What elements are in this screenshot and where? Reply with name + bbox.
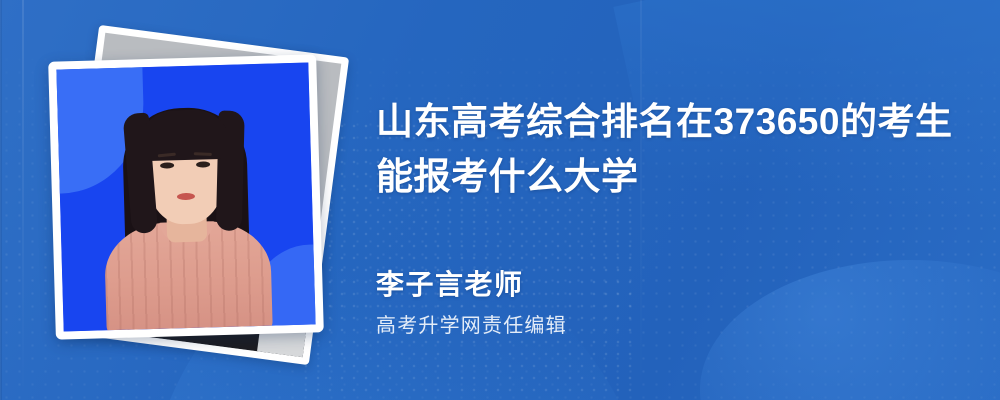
author-role: 高考升学网责任编辑	[376, 314, 567, 338]
avatar	[48, 54, 324, 339]
portrait-illustration	[57, 93, 315, 332]
article-cover-banner: 山东高考综合排名在373650的考生 能报考什么大学 李子言老师 高考升学网责任…	[0, 0, 1000, 400]
avatar-photo-stack	[52, 38, 342, 358]
background-vertical-line	[22, 0, 24, 400]
page-title-line-1: 山东高考综合排名在373650的考生	[376, 95, 976, 150]
author-name: 李子言老师	[376, 268, 567, 302]
author-block: 李子言老师 高考升学网责任编辑	[376, 268, 567, 338]
page-title-line-2: 能报考什么大学	[376, 150, 976, 205]
page-title: 山东高考综合排名在373650的考生 能报考什么大学	[376, 95, 976, 205]
